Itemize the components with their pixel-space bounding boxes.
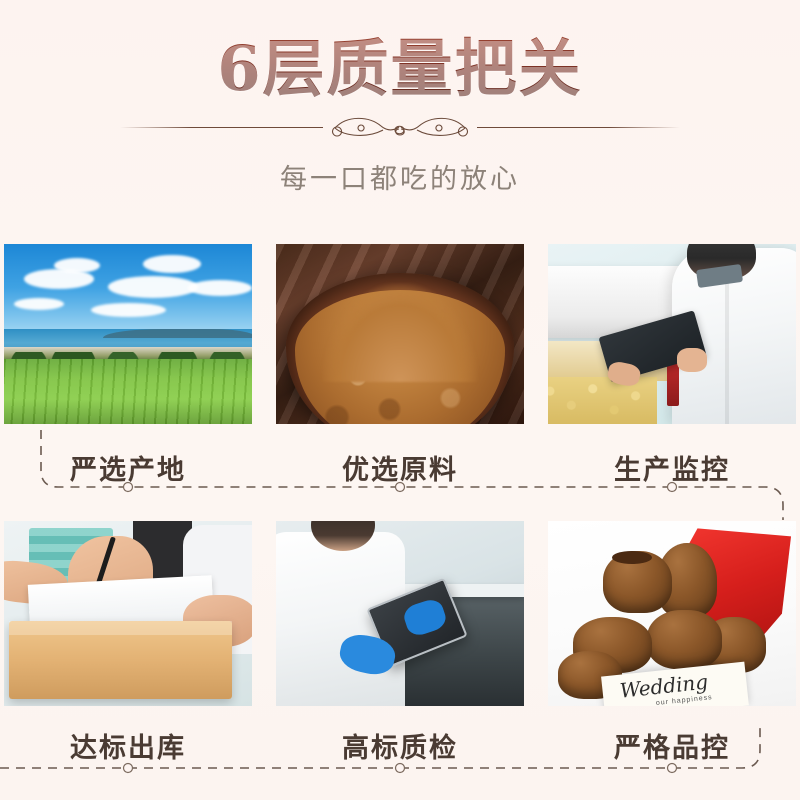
divider-rule-right: [477, 127, 680, 128]
step-card-5[interactable]: 高标质检: [276, 521, 524, 775]
step-card-4[interactable]: 达标出库: [4, 521, 252, 775]
step-image-1: [4, 244, 252, 424]
step-label-6: 严格品控: [548, 706, 796, 775]
step-card-2[interactable]: 优选原料: [276, 244, 524, 521]
step-image-4: [4, 521, 252, 706]
promo-poster: 6层质量把关 每一口都吃的放心: [0, 0, 800, 800]
divider-rule-left: [120, 127, 323, 128]
step-image-2: [276, 244, 524, 424]
step-label-2: 优选原料: [276, 424, 524, 521]
step-card-1[interactable]: 严选产地: [4, 244, 252, 521]
step-image-5: [276, 521, 524, 706]
flourish-ornament-icon: [325, 113, 475, 141]
page-title: 6层质量把关: [0, 33, 800, 105]
step-card-3[interactable]: 生产监控: [548, 244, 796, 521]
step-label-5: 高标质检: [276, 706, 524, 775]
steps-grid: 严选产地 优选原料: [0, 244, 800, 775]
page-subtitle: 每一口都吃的放心: [0, 157, 800, 196]
step-label-1: 严选产地: [4, 424, 252, 521]
poster-header: 6层质量把关 每一口都吃的放心: [0, 0, 800, 230]
step-card-6[interactable]: Wedding our happiness 严格品控: [548, 521, 796, 775]
step-image-3: [548, 244, 796, 424]
flourish-divider: [120, 112, 680, 142]
step-label-4: 达标出库: [4, 706, 252, 775]
step-label-3: 生产监控: [548, 424, 796, 521]
step-image-6: Wedding our happiness: [548, 521, 796, 706]
